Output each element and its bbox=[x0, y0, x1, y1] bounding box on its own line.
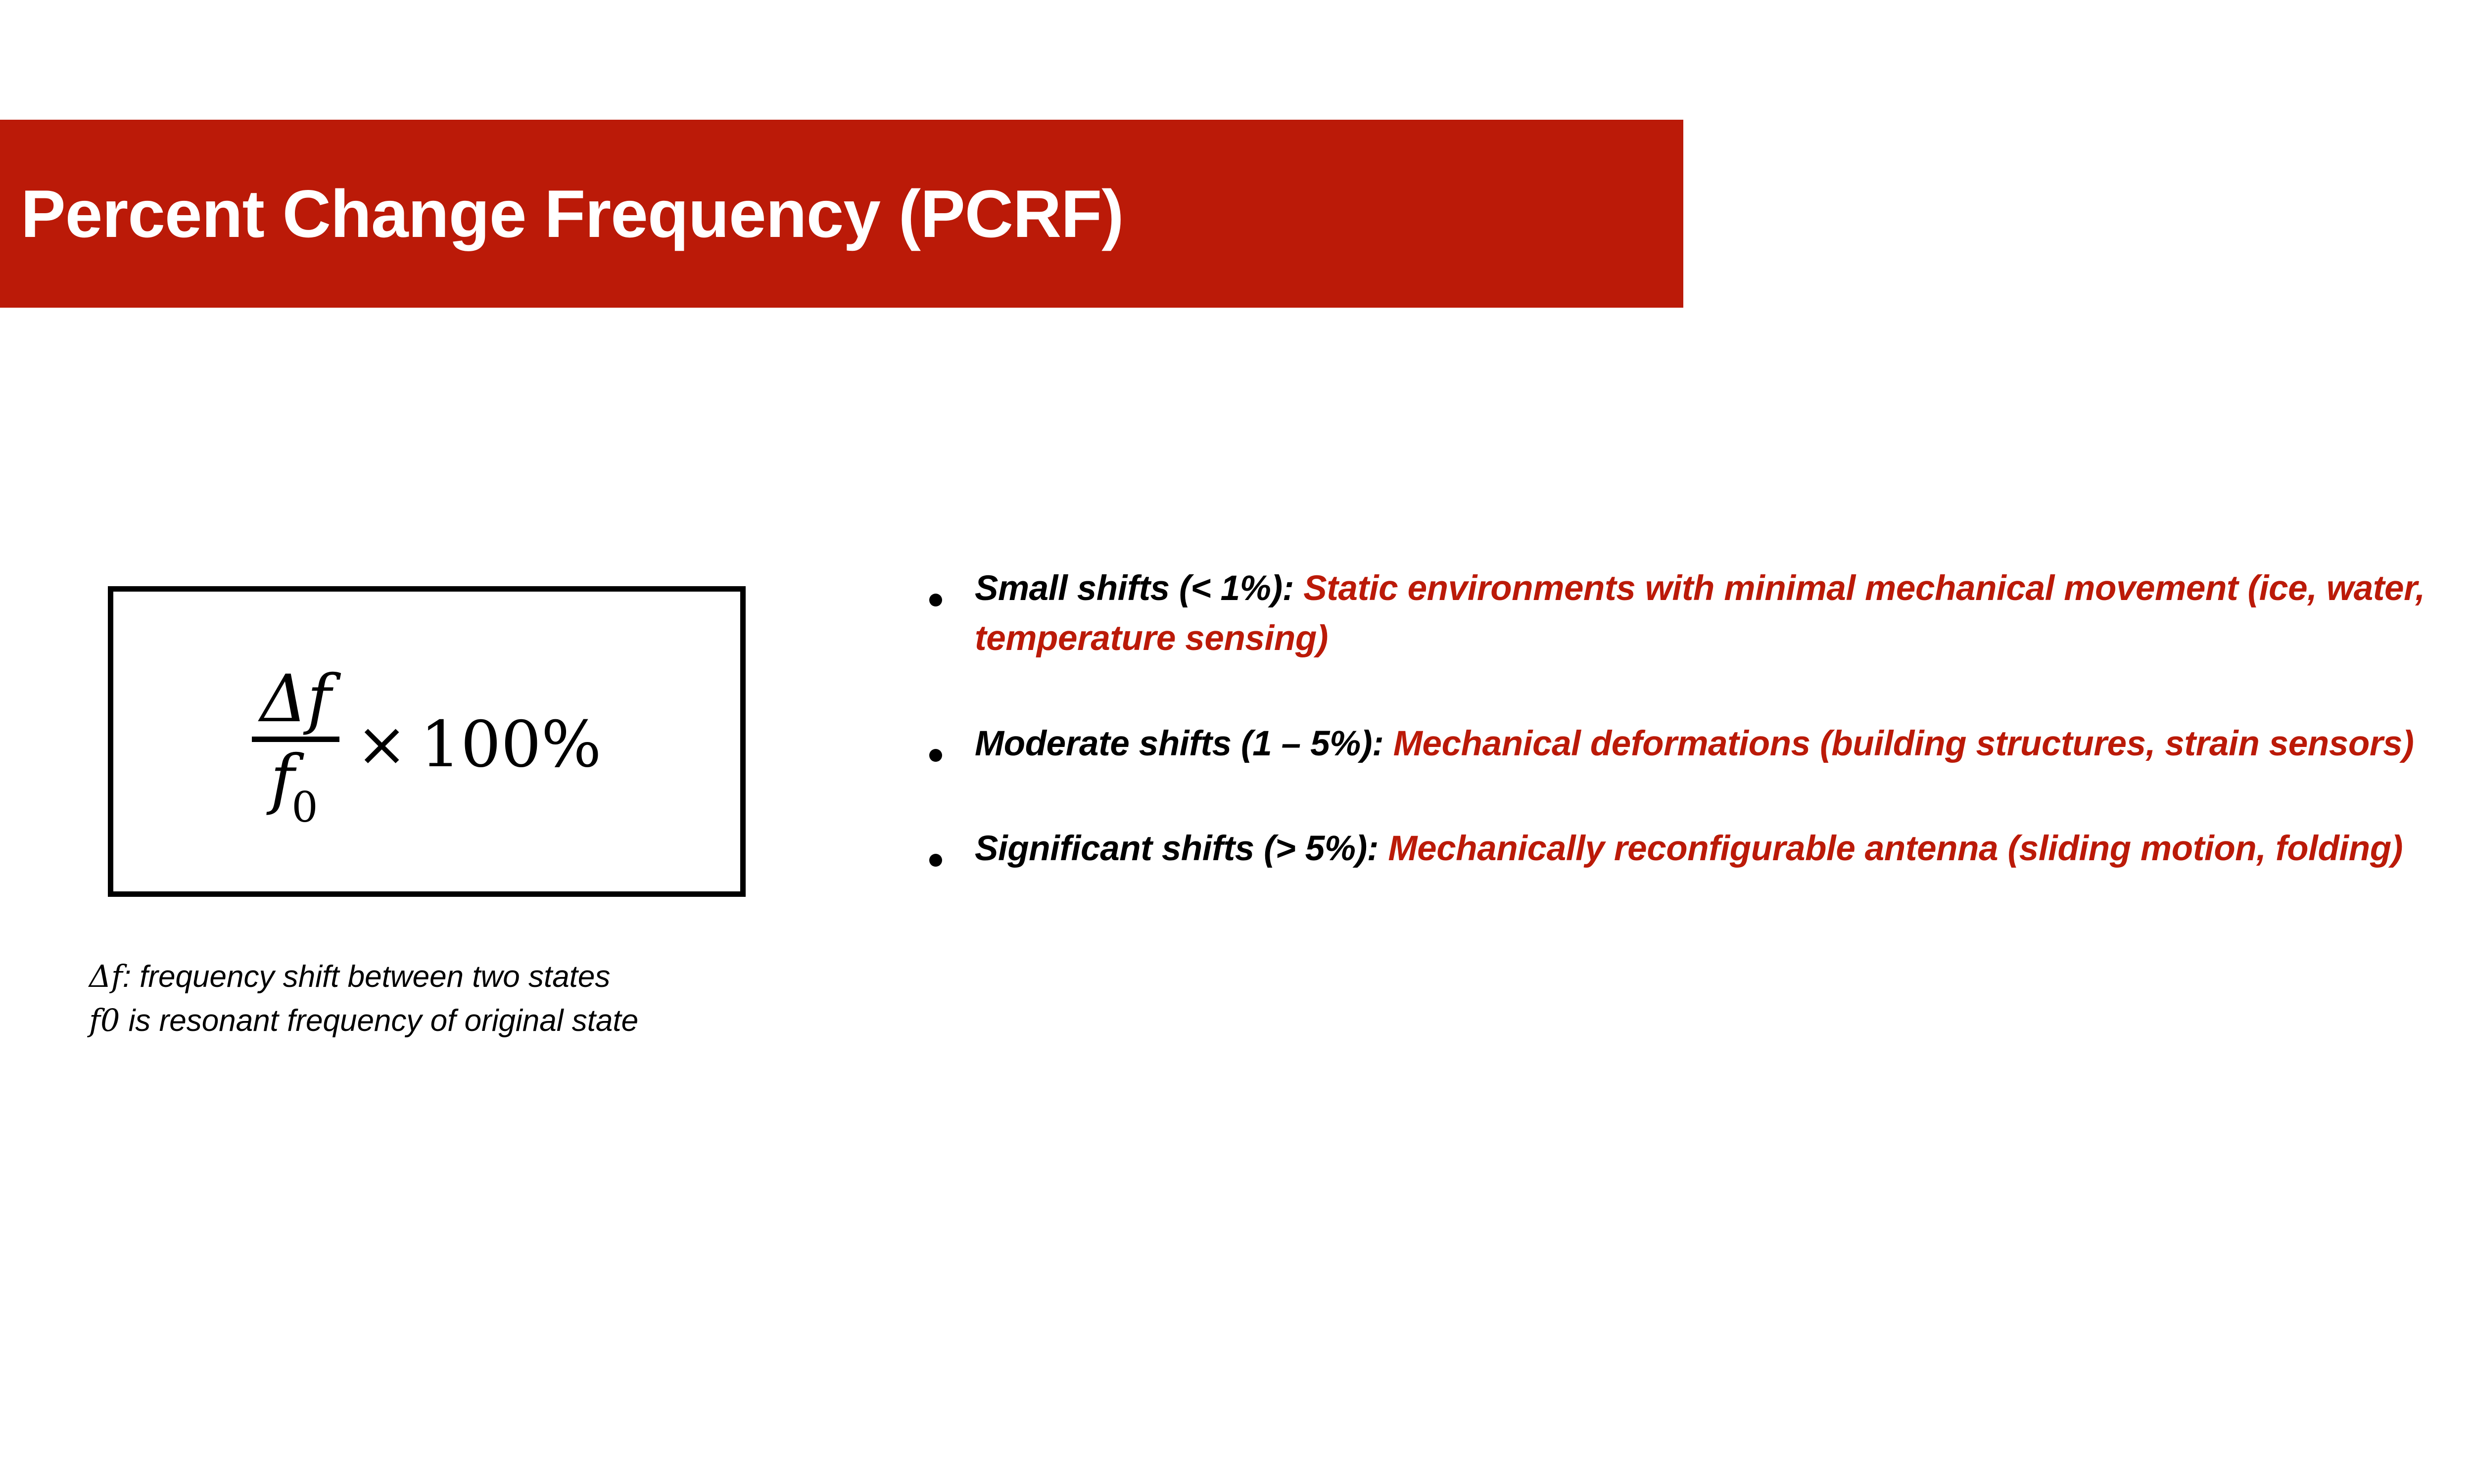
bullet-highlight: Mechanically reconfigurable antenna (sli… bbox=[1379, 829, 2403, 868]
bullet-label: Significant shifts (> 5%): bbox=[975, 829, 1379, 868]
bullet-text: Significant shifts (> 5%): Mechanically … bbox=[975, 824, 2474, 874]
bullet-list: Small shifts (< 1%): Static environments… bbox=[921, 564, 2474, 874]
formula-box: Δf f0 × 100% bbox=[108, 586, 746, 897]
bullet-label: Moderate shifts (1 – 5%): bbox=[975, 724, 1383, 763]
bullet-text: Moderate shifts (1 – 5%): Mechanical def… bbox=[975, 719, 2474, 769]
title-banner: Percent Change Frequency (PCRF) bbox=[0, 120, 1683, 308]
formula-right-hand-side: 100% bbox=[421, 708, 602, 782]
formula-caption-line-2-text: is resonant frequency of original state bbox=[120, 1004, 638, 1038]
bullet-dot-icon bbox=[929, 749, 942, 762]
bullet-highlight: Mechanical deformations (building struct… bbox=[1383, 724, 2414, 763]
formula-denominator: f0 bbox=[262, 742, 329, 823]
bullet-dot-icon bbox=[929, 854, 942, 867]
formula-numerator: Δf bbox=[252, 665, 339, 737]
list-item: Moderate shifts (1 – 5%): Mechanical def… bbox=[921, 719, 2474, 769]
bullet-text: Small shifts (< 1%): Static environments… bbox=[975, 564, 2474, 664]
multiplication-sign-icon: × bbox=[356, 709, 408, 780]
formula-expression: Δf f0 × 100% bbox=[113, 592, 740, 891]
list-item: Significant shifts (> 5%): Mechanically … bbox=[921, 824, 2474, 874]
formula-caption: Δf: frequency shift between two states f… bbox=[89, 955, 930, 1043]
formula-caption-line-1: Δf: frequency shift between two states bbox=[89, 955, 930, 999]
page-title: Percent Change Frequency (PCRF) bbox=[0, 180, 1124, 247]
f-zero-symbol: f0 bbox=[89, 1002, 120, 1038]
formula-denominator-base: f bbox=[270, 741, 294, 817]
delta-f-symbol: Δf bbox=[89, 958, 123, 994]
list-item: Small shifts (< 1%): Static environments… bbox=[921, 564, 2474, 664]
formula-fraction: Δf f0 bbox=[252, 665, 339, 822]
bullet-label: Small shifts (< 1%): bbox=[975, 569, 1294, 608]
bullet-dot-icon bbox=[929, 594, 942, 606]
formula-denominator-subscript: 0 bbox=[291, 783, 318, 832]
formula-fraction-bar bbox=[252, 737, 339, 742]
formula-caption-line-2: f0 is resonant frequency of original sta… bbox=[89, 999, 930, 1043]
formula-caption-line-1-text: : frequency shift between two states bbox=[123, 960, 611, 994]
